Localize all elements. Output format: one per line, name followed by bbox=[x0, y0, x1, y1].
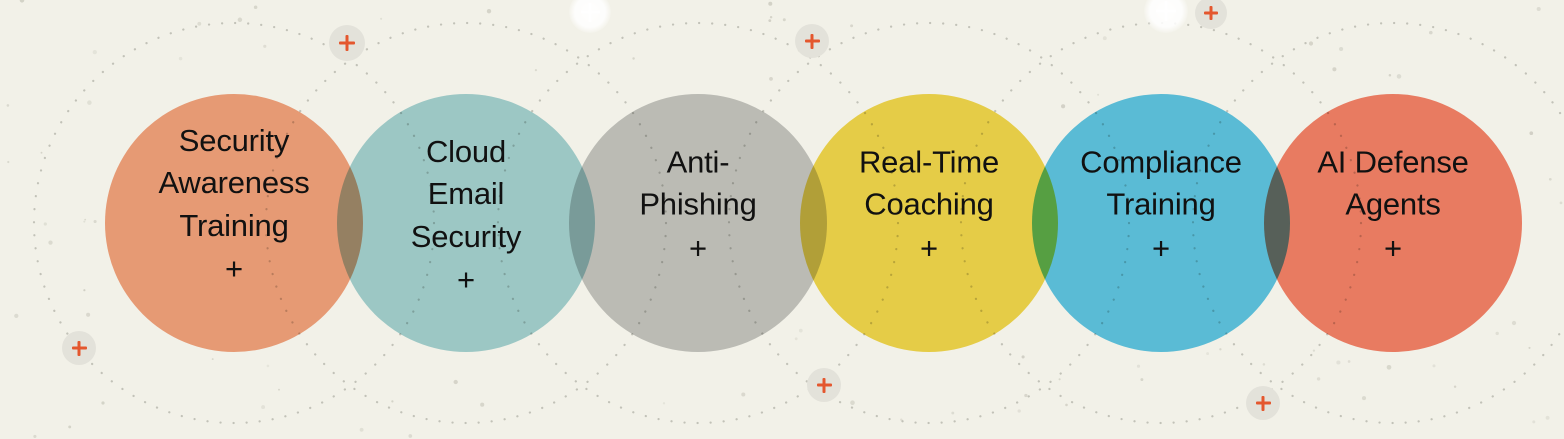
plus-icon bbox=[1156, 1, 1176, 21]
add-badge[interactable] bbox=[569, 0, 611, 33]
add-badge[interactable] bbox=[1246, 386, 1280, 420]
add-badge[interactable] bbox=[62, 331, 96, 365]
add-badges-layer bbox=[0, 0, 1564, 439]
add-badge[interactable] bbox=[807, 368, 841, 402]
diagram-canvas: Security Awareness Training+Cloud Email … bbox=[0, 0, 1564, 439]
plus-icon bbox=[339, 35, 355, 51]
plus-icon bbox=[581, 3, 600, 22]
add-badge[interactable] bbox=[795, 24, 829, 58]
plus-icon bbox=[1256, 396, 1271, 411]
plus-icon bbox=[817, 378, 832, 393]
add-badge[interactable] bbox=[1144, 0, 1188, 33]
plus-icon bbox=[1204, 6, 1218, 20]
plus-icon bbox=[72, 341, 87, 356]
add-badge[interactable] bbox=[329, 25, 365, 61]
plus-icon bbox=[805, 34, 820, 49]
add-badge[interactable] bbox=[1195, 0, 1227, 29]
